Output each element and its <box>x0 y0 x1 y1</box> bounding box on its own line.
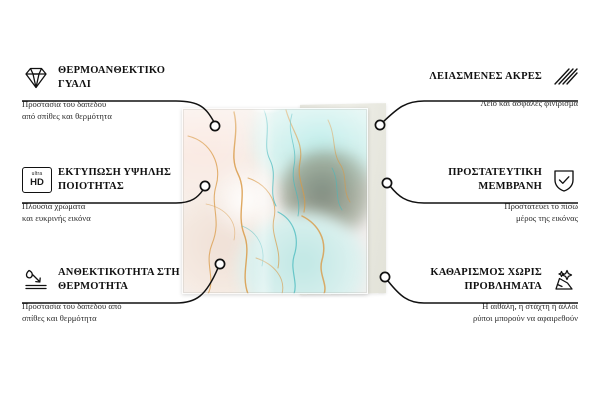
feature-desc: Λείο και ασφαλές φινίρισμα <box>402 97 578 109</box>
feature-heat-resistant-glass: ΘΕΡΜΟΑΝΘΕΚΤΙΚΟ ΓΥΑΛΙ Προστασία του δαπέδ… <box>22 64 198 123</box>
feature-title: ΑΝΘΕΚΤΙΚΟΤΗΤΑ ΣΤΗ ΘΕΡΜΟΤΗΤΑ <box>58 266 198 293</box>
glass-edge <box>182 108 368 294</box>
product-glass-front <box>182 108 368 294</box>
infographic-stage: ΘΕΡΜΟΑΝΘΕΚΤΙΚΟ ΓΥΑΛΙ Προστασία του δαπέδ… <box>0 0 600 400</box>
feature-easy-cleaning: ΚΑΘΑΡΙΣΜΟΣ ΧΩΡΙΣ ΠΡΟΒΛΗΜΑΤΑ Η αιθάλη, η … <box>402 266 578 325</box>
polished-edges-icon <box>550 64 578 90</box>
ultra-hd-badge-icon: ultra HD <box>22 167 50 193</box>
feature-desc: Προστασία του δαπέδου από σπίθες και θερ… <box>22 98 198 122</box>
feature-protective-film: ΠΡΟΣΤΑΤΕΥΤΙΚΗ ΜΕΜΒΡΑΝΗ Προστατεύει το πί… <box>402 166 578 225</box>
feature-title: ΛΕΙΑΣΜΕΝΕΣ ΑΚΡΕΣ <box>402 70 542 84</box>
feature-title: ΠΡΟΣΤΑΤΕΥΤΙΚΗ ΜΕΜΒΡΑΝΗ <box>402 166 542 193</box>
sparkle-cloth-icon <box>550 267 578 293</box>
badge-bottom-label: HD <box>30 178 44 188</box>
feature-title: ΘΕΡΜΟΑΝΘΕΚΤΙΚΟ ΓΥΑΛΙ <box>58 64 198 91</box>
flame-deflect-icon <box>22 267 50 293</box>
feature-heat-durability: ΑΝΘΕΚΤΙΚΟΤΗΤΑ ΣΤΗ ΘΕΡΜΟΤΗΤΑ Προστασία το… <box>22 266 198 325</box>
diamond-icon <box>22 65 50 91</box>
feature-desc: Προστασία του δαπέδου από σπίθες και θερ… <box>22 300 198 324</box>
feature-polished-edges: ΛΕΙΑΣΜΕΝΕΣ ΑΚΡΕΣ Λείο και ασφαλές φινίρι… <box>402 64 578 109</box>
product-image <box>182 108 400 294</box>
feature-high-quality-print: ultra HD ΕΚΤΥΠΩΣΗ ΥΨΗΛΗΣ ΠΟΙΟΤΗΤΑΣ Πλούσ… <box>22 166 198 225</box>
feature-desc: Η αιθάλη, η στάχτη ή άλλοι ρύποι μπορούν… <box>402 300 578 324</box>
feature-desc: Προστατεύει το πίσω μέρος της εικόνας <box>402 200 578 224</box>
feature-title: ΚΑΘΑΡΙΣΜΟΣ ΧΩΡΙΣ ΠΡΟΒΛΗΜΑΤΑ <box>402 266 542 293</box>
feature-title: ΕΚΤΥΠΩΣΗ ΥΨΗΛΗΣ ΠΟΙΟΤΗΤΑΣ <box>58 166 198 193</box>
feature-desc: Πλούσια χρώματα και ευκρινής εικόνα <box>22 200 198 224</box>
shield-check-icon <box>550 167 578 193</box>
